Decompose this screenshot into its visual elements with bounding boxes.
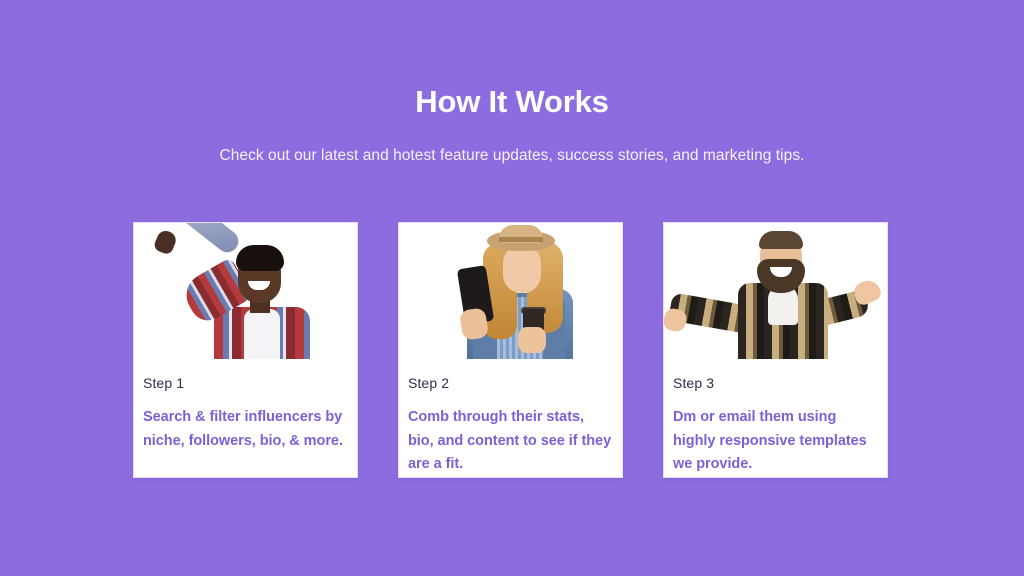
- step-card-1[interactable]: Step 1 Search & filter influencers by ni…: [133, 222, 358, 478]
- section-header: How It Works Check out our latest and ho…: [0, 82, 1024, 167]
- step-3-body: Step 3 Dm or email them using highly res…: [664, 359, 887, 477]
- step-description: Comb through their stats, bio, and conte…: [408, 406, 613, 477]
- step-label: Step 2: [408, 374, 613, 392]
- step-card-3[interactable]: Step 3 Dm or email them using highly res…: [663, 222, 888, 478]
- page-subtitle: Check out our latest and hotest feature …: [0, 145, 1024, 167]
- page-title: How It Works: [0, 82, 1024, 122]
- step-1-body: Step 1 Search & filter influencers by ni…: [134, 359, 357, 477]
- person-photo-icon: [399, 223, 622, 359]
- step-1-image: [134, 223, 357, 359]
- step-2-image: [399, 223, 622, 359]
- how-it-works-section: How It Works Check out our latest and ho…: [0, 0, 1024, 576]
- person-photo-icon: [134, 223, 357, 359]
- step-2-body: Step 2 Comb through their stats, bio, an…: [399, 359, 622, 477]
- step-description: Search & filter influencers by niche, fo…: [143, 406, 348, 453]
- step-card-2[interactable]: Step 2 Comb through their stats, bio, an…: [398, 222, 623, 478]
- step-label: Step 1: [143, 374, 348, 392]
- step-description: Dm or email them using highly responsive…: [673, 406, 878, 477]
- steps-card-row: Step 1 Search & filter influencers by ni…: [133, 222, 888, 478]
- step-3-image: [664, 223, 887, 359]
- person-photo-icon: [664, 223, 887, 359]
- step-label: Step 3: [673, 374, 878, 392]
